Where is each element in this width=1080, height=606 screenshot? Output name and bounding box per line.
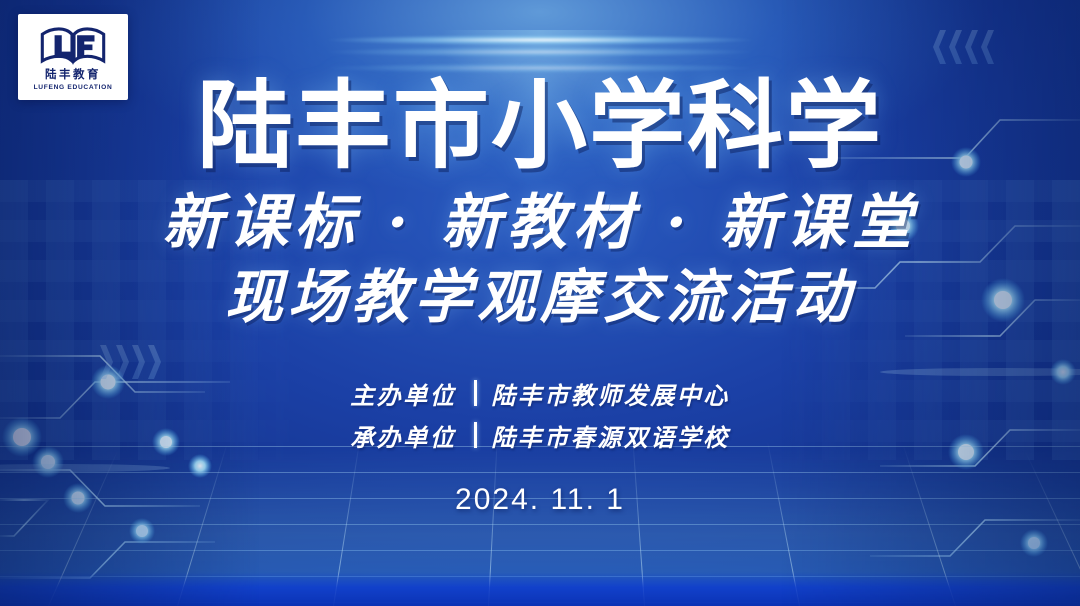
organizer-block: 主办单位 陆丰市教师发展中心 承办单位 陆丰市春源双语学校 [350,376,730,453]
poster-canvas: 陆丰教育 LUFENG EDUCATION 陆丰市小学科学 新课标 · 新教材 … [0,0,1080,606]
poster-content: 陆丰市小学科学 新课标 · 新教材 · 新课堂 现场教学观摩交流活动 主办单位 … [0,0,1080,606]
organizer-label-coorganizer: 承办单位 [350,418,460,453]
organizer-row-host: 主办单位 陆丰市教师发展中心 [350,376,730,411]
organizer-value-host: 陆丰市教师发展中心 [491,376,730,411]
organizer-label-host: 主办单位 [350,376,460,411]
organizer-value-coorganizer: 陆丰市春源双语学校 [491,418,730,453]
organizer-row-coorganizer: 承办单位 陆丰市春源双语学校 [350,418,730,453]
organizer-separator-host [474,380,477,406]
event-date: 2024. 11. 1 [455,483,625,517]
poster-subtitle-line-2: 现场教学观摩交流活动 [225,267,855,328]
organizer-separator-coorganizer [474,422,477,448]
poster-subtitle-line-1: 新课标 · 新教材 · 新课堂 [162,192,917,255]
poster-main-title: 陆丰市小学科学 [197,78,883,174]
